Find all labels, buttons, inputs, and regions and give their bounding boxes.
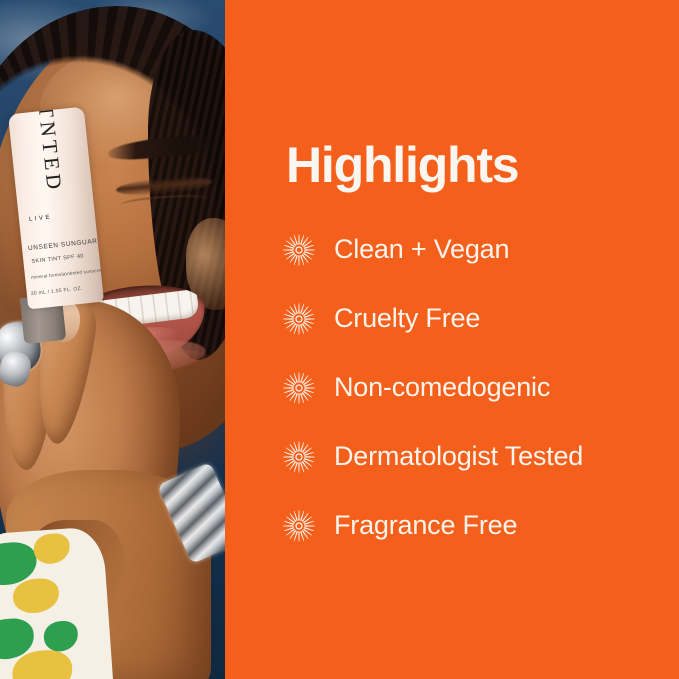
shirt-pattern-blob <box>33 532 71 564</box>
product-name-text: UNSEEN SUNGUARD+ TINT <box>28 235 104 252</box>
shirt-pattern-blob <box>43 620 79 652</box>
sunburst-icon <box>283 441 315 473</box>
list-item-label: Cruelty Free <box>334 304 480 334</box>
list-item-label: Dermatologist Tested <box>334 442 583 472</box>
list-item: Non-comedogenic <box>283 366 673 410</box>
highlights-list: Clean + Vegan Cruelty Free Non-comedogen… <box>283 228 673 548</box>
sunburst-icon <box>283 234 315 266</box>
product-lifestyle-photo: TNTED LIVE UNSEEN SUNGUARD+ TINT SKIN TI… <box>0 0 225 679</box>
list-item: Cruelty Free <box>283 297 673 341</box>
product-spf-text: SKIN TINT SPF 40 <box>31 253 84 264</box>
sunburst-icon <box>283 303 315 335</box>
list-item-label: Non-comedogenic <box>334 373 550 403</box>
product-volume-text: 30 mL / 1.05 FL. OZ. <box>31 286 83 297</box>
product-subbrand-text: LIVE <box>29 214 53 222</box>
page-title: Highlights <box>286 140 518 190</box>
shirt-pattern-blob <box>12 577 60 614</box>
list-item-label: Fragrance Free <box>334 511 517 541</box>
list-item: Clean + Vegan <box>283 228 673 272</box>
list-item: Dermatologist Tested <box>283 435 673 479</box>
sunburst-icon <box>283 372 315 404</box>
product-brand-text: TNTED <box>33 107 67 195</box>
patterned-shirt <box>0 526 113 679</box>
product-highlights-card: TNTED LIVE UNSEEN SUNGUARD+ TINT SKIN TI… <box>0 0 679 679</box>
list-item: Fragrance Free <box>283 504 673 548</box>
list-item-label: Clean + Vegan <box>334 235 509 265</box>
product-descriptor-text: mineral formula\ntinted sunscreen <box>31 267 104 280</box>
highlights-panel: Highlights Clean + Vegan Cruelty Free <box>225 0 679 679</box>
sunburst-icon <box>283 510 315 542</box>
